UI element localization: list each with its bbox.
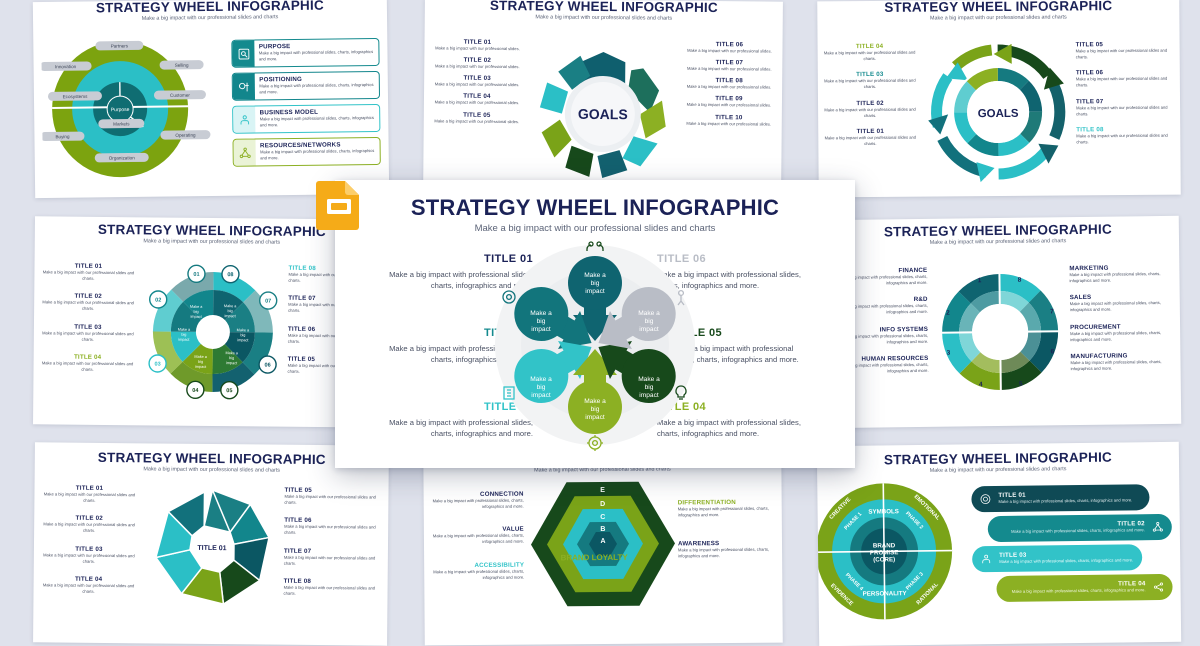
- list-item: TITLE 04Make a big impact with our profe…: [40, 575, 138, 595]
- svg-text:Selling: Selling: [175, 63, 189, 68]
- svg-text:A: A: [600, 538, 605, 545]
- svg-text:2: 2: [946, 310, 950, 317]
- svg-text:big: big: [228, 309, 233, 313]
- list-item: TITLE 07Make a big impact with our profe…: [284, 547, 382, 567]
- svg-text:big: big: [194, 310, 199, 314]
- svg-text:04: 04: [192, 388, 199, 394]
- list-item: MARKETINGMake a big impact with professi…: [1069, 264, 1173, 285]
- list-item: TITLE 10Make a big impact with our profe…: [684, 113, 774, 127]
- list-item: TITLE 04Make a big impact with our profe…: [42, 353, 134, 373]
- svg-text:B: B: [600, 526, 605, 533]
- list-item: TITLE 02Make a big impact with our profe…: [42, 293, 134, 313]
- svg-text:07: 07: [265, 299, 271, 305]
- svg-text:Customer: Customer: [170, 93, 190, 98]
- list-item: TITLE 07Make a big impact with our profe…: [1076, 97, 1174, 117]
- list-item: TITLE 05Make a big impact with our profe…: [432, 111, 522, 125]
- svg-text:4: 4: [979, 381, 983, 388]
- goals-arrow-ring-diagram: GOALS: [918, 35, 1079, 188]
- list-item: TITLE 03Make a big impact with our profe…: [40, 545, 138, 565]
- svg-text:Make a: Make a: [178, 328, 191, 332]
- slide-thumbnail-goals-decagon[interactable]: STRATEGY WHEEL INFOGRAPHIC Make a big im…: [423, 0, 783, 198]
- pinwheel-diagram: TITLE 01: [141, 477, 282, 618]
- svg-text:big: big: [537, 384, 546, 391]
- list-item: TITLE 06Make a big impact with our profe…: [684, 41, 774, 55]
- svg-text:E: E: [600, 487, 605, 494]
- svg-text:Make a: Make a: [190, 305, 203, 309]
- hero-wheel-diagram: Make abigimpact Make abigimpact Make a b…: [480, 241, 710, 457]
- svg-text:SYMBOLS: SYMBOLS: [868, 508, 899, 515]
- list-item: TITLE 01Make a big impact with our profe…: [40, 484, 138, 504]
- svg-text:Make a: Make a: [530, 376, 552, 383]
- screenshot-canvas: STRATEGY WHEEL INFOGRAPHIC Make a big im…: [0, 0, 1200, 627]
- card-body: Make a big impact with professional slid…: [260, 148, 376, 162]
- list-item: CONNECTIONMake a big impact with profess…: [430, 491, 524, 511]
- numbered-donut-diagram: Make abigimpact Make abigimpact Make abi…: [137, 255, 288, 406]
- list-item: TITLE 08Make a big impact with our profe…: [684, 77, 774, 91]
- svg-text:impact: impact: [585, 288, 605, 295]
- concentric-wheel-diagram: Purpose Partners Selling Customer Operat…: [41, 34, 243, 186]
- left-items: CONNECTIONMake a big impact with profess…: [430, 491, 525, 582]
- list-item: TITLE 01Make a big impact with our profe…: [42, 262, 134, 282]
- svg-text:Make a: Make a: [584, 272, 606, 279]
- svg-text:big: big: [645, 384, 654, 391]
- card-list: PURPOSE Make a big impact with professio…: [231, 38, 381, 167]
- svg-text:big: big: [591, 406, 600, 413]
- slide-thumbnail-business-functions[interactable]: STRATEGY WHEEL INFOGRAPHIC Make a big im…: [817, 216, 1182, 428]
- svg-text:(CORE): (CORE): [873, 556, 895, 563]
- page-title: STRATEGY WHEEL INFOGRAPHIC: [817, 442, 1179, 469]
- page-subtitle: Make a big impact with our professional …: [425, 14, 783, 23]
- list-item: ACCESSIBILITYMake a big impact with prof…: [430, 561, 524, 581]
- svg-text:big: big: [181, 333, 186, 337]
- svg-text:Operating: Operating: [175, 133, 196, 138]
- hero-body: TITLE 01 Make a big impact with professi…: [335, 235, 855, 463]
- svg-text:03: 03: [154, 361, 160, 367]
- svg-text:6: 6: [1051, 348, 1055, 355]
- svg-text:Make a: Make a: [224, 304, 237, 308]
- list-item: TITLE 01Make a big impact with our profe…: [824, 127, 916, 147]
- svg-text:5: 5: [1019, 381, 1023, 388]
- svg-text:D: D: [600, 501, 605, 508]
- right-items: TITLE 06Make a big impact with our profe…: [684, 41, 775, 128]
- svg-text:BRAND LOYALTY: BRAND LOYALTY: [561, 553, 629, 563]
- svg-text:impact: impact: [639, 392, 659, 399]
- list-item: TITLE 06Make a big impact with our profe…: [1076, 69, 1174, 89]
- list-item: TITLE 07Make a big impact with our profe…: [684, 59, 774, 73]
- svg-text:impact: impact: [531, 392, 551, 399]
- svg-text:impact: impact: [237, 338, 249, 342]
- slide-thumbnail-concentric-wheel[interactable]: STRATEGY WHEEL INFOGRAPHIC Make a big im…: [33, 0, 389, 198]
- slide-thumbnail-brand-promise-core[interactable]: STRATEGY WHEEL INFOGRAPHIC Make a big im…: [817, 442, 1181, 646]
- list-item: TITLE 09Make a big impact with our profe…: [684, 95, 774, 109]
- svg-text:Make a: Make a: [225, 351, 238, 355]
- svg-text:impact: impact: [224, 314, 236, 318]
- list-item: TITLE 02Make a big impact with our profe…: [824, 99, 916, 119]
- card-title-03[interactable]: TITLE 03 Make a big impact with professi…: [972, 544, 1142, 572]
- brand-loyalty-hex-diagram: EDCBA BRAND LOYALTY: [527, 473, 678, 614]
- right-items: DIFFERENTIATIONMake a big impact with pr…: [678, 499, 776, 560]
- google-slides-icon[interactable]: [316, 178, 362, 232]
- card-body: Make a big impact with professional slid…: [259, 82, 375, 96]
- svg-text:big: big: [537, 318, 546, 325]
- list-item: MANUFACTURINGMake a big impact with prof…: [1070, 352, 1174, 373]
- svg-text:8: 8: [1018, 277, 1022, 284]
- svg-text:Make a: Make a: [638, 376, 660, 383]
- svg-text:7: 7: [1050, 308, 1054, 315]
- svg-text:3: 3: [947, 350, 951, 357]
- card-business-model[interactable]: BUSINESS MODEL Make a big impact with pr…: [232, 104, 380, 134]
- svg-text:impact: impact: [195, 365, 207, 369]
- svg-text:big: big: [591, 280, 600, 287]
- list-item: AWARENESSMake a big impact with professi…: [678, 540, 776, 560]
- hero-subtitle: Make a big impact with our professional …: [335, 224, 855, 234]
- svg-text:Markets: Markets: [113, 121, 130, 126]
- svg-text:GOALS: GOALS: [578, 106, 628, 122]
- svg-text:Make a: Make a: [237, 328, 250, 332]
- brand-promise-core-diagram: SYMBOLS PERSONALITY BRANDPROMISE(CORE) P…: [817, 478, 963, 630]
- right-items: MARKETINGMake a big impact with professi…: [1069, 264, 1174, 372]
- svg-text:Purpose: Purpose: [111, 107, 130, 113]
- network-icon: [1148, 521, 1168, 533]
- card-title-02[interactable]: TITLE 02 Make a big impact with professi…: [988, 514, 1172, 542]
- svg-text:big: big: [229, 356, 234, 360]
- svg-text:C: C: [600, 514, 605, 521]
- list-item: TITLE 05Make a big impact with our profe…: [1076, 41, 1174, 61]
- people-icon: [976, 553, 996, 565]
- goals-decagon-diagram: GOALS: [527, 37, 678, 188]
- svg-text:impact: impact: [531, 326, 551, 333]
- page-subtitle: Make a big impact with our professional …: [817, 15, 1179, 24]
- card-purpose[interactable]: PURPOSE Make a big impact with professio…: [231, 38, 379, 68]
- list-item: TITLE 03Make a big impact with our profe…: [432, 75, 522, 89]
- business-functions-diagram: 12 34 56 78: [929, 259, 1071, 401]
- featured-slide[interactable]: STRATEGY WHEEL INFOGRAPHIC Make a big im…: [335, 180, 855, 468]
- left-items: TITLE 01Make a big impact with our profe…: [40, 484, 139, 595]
- svg-text:big: big: [240, 333, 245, 337]
- card-body: Make a big impact with professional slid…: [260, 115, 376, 129]
- svg-text:Partners: Partners: [111, 43, 129, 48]
- slide-thumbnail-goals-arrow-ring[interactable]: STRATEGY WHEEL INFOGRAPHIC Make a big im…: [817, 0, 1181, 197]
- svg-text:big: big: [198, 360, 203, 364]
- list-item: TITLE 06Make a big impact with our profe…: [284, 517, 382, 537]
- svg-text:big: big: [645, 318, 654, 325]
- list-item: TITLE 02Make a big impact with our profe…: [40, 515, 138, 535]
- chart-search-icon: [232, 40, 255, 66]
- card-positioning[interactable]: POSITIONING Make a big impact with profe…: [232, 71, 380, 101]
- svg-text:TITLE 01: TITLE 01: [197, 545, 226, 552]
- left-items: TITLE 01Make a big impact with our profe…: [432, 38, 523, 125]
- right-items: TITLE 05Make a big impact with our profe…: [1076, 41, 1175, 146]
- svg-text:06: 06: [264, 363, 270, 369]
- presenter-chart-icon: [233, 73, 256, 99]
- list-item: VALUEMake a big impact with professional…: [430, 526, 524, 546]
- list-item: TITLE 03Make a big impact with our profe…: [42, 323, 134, 343]
- card-title-01[interactable]: TITLE 01 Make a big impact with professi…: [971, 484, 1149, 512]
- slide-thumbnail-pinwheel[interactable]: STRATEGY WHEEL INFOGRAPHIC Make a big im…: [33, 442, 389, 645]
- slide-thumbnail-brand-loyalty-hex[interactable]: STRATEGY WHEEL INFOGRAPHIC Make a big im…: [423, 443, 783, 646]
- target-icon: [975, 493, 995, 505]
- svg-text:impact: impact: [639, 326, 659, 333]
- list-item: PROCUREMENTMake a big impact with profes…: [1070, 322, 1174, 343]
- svg-text:impact: impact: [585, 414, 605, 421]
- card-title-04[interactable]: TITLE 04 Make a big impact with professi…: [996, 574, 1172, 602]
- list-item: TITLE 04Make a big impact with our profe…: [432, 93, 522, 107]
- svg-text:GOALS: GOALS: [978, 108, 1019, 120]
- svg-text:Make a: Make a: [530, 310, 552, 317]
- left-items: TITLE 04Make a big impact with our profe…: [824, 43, 917, 148]
- page-title: STRATEGY WHEEL INFOGRAPHIC: [817, 216, 1179, 241]
- list-item: TITLE 02Make a big impact with our profe…: [432, 57, 522, 71]
- card-body: Make a big impact with professional slid…: [259, 49, 375, 63]
- svg-text:Ecosystems: Ecosystems: [63, 94, 89, 99]
- share-icon: [1148, 581, 1168, 593]
- list-item: TITLE 08Make a big impact with our profe…: [1076, 125, 1174, 145]
- people-icon: [233, 106, 256, 132]
- list-item: TITLE 03Make a big impact with our profe…: [824, 71, 916, 91]
- svg-text:Make a: Make a: [194, 355, 207, 359]
- svg-text:08: 08: [227, 272, 233, 278]
- svg-text:impact: impact: [226, 361, 238, 365]
- svg-text:impact: impact: [190, 315, 202, 319]
- svg-text:impact: impact: [178, 338, 190, 342]
- svg-text:1: 1: [978, 277, 982, 284]
- left-items: TITLE 01Make a big impact with our profe…: [42, 262, 135, 373]
- list-item: TITLE 08Make a big impact with our profe…: [283, 578, 381, 598]
- list-item: TITLE 05Make a big impact with our profe…: [284, 487, 382, 507]
- svg-text:Innovation: Innovation: [55, 64, 77, 69]
- list-item: DIFFERENTIATIONMake a big impact with pr…: [678, 499, 776, 519]
- svg-text:Make a: Make a: [638, 310, 660, 317]
- svg-text:02: 02: [155, 297, 161, 303]
- svg-text:05: 05: [226, 388, 232, 394]
- page-title: STRATEGY WHEEL INFOGRAPHIC: [425, 0, 783, 16]
- card-list: TITLE 01 Make a big impact with professi…: [971, 484, 1172, 602]
- list-item: TITLE 04Make a big impact with our profe…: [824, 43, 916, 63]
- svg-text:PERSONALITY: PERSONALITY: [863, 590, 908, 598]
- hero-title: STRATEGY WHEEL INFOGRAPHIC: [335, 196, 855, 219]
- card-resources-networks[interactable]: RESOURCES/NETWORKS Make a big impact wit…: [232, 137, 380, 167]
- right-items: TITLE 05Make a big impact with our profe…: [283, 487, 382, 598]
- svg-text:Organization: Organization: [109, 155, 136, 160]
- svg-text:Buying: Buying: [55, 134, 70, 139]
- svg-text:01: 01: [193, 272, 199, 278]
- network-icon: [234, 139, 257, 165]
- page-title: STRATEGY WHEEL INFOGRAPHIC: [817, 0, 1179, 16]
- list-item: SALESMake a big impact with professional…: [1070, 293, 1174, 314]
- svg-text:Make a: Make a: [584, 398, 606, 405]
- list-item: TITLE 01Make a big impact with our profe…: [432, 38, 522, 52]
